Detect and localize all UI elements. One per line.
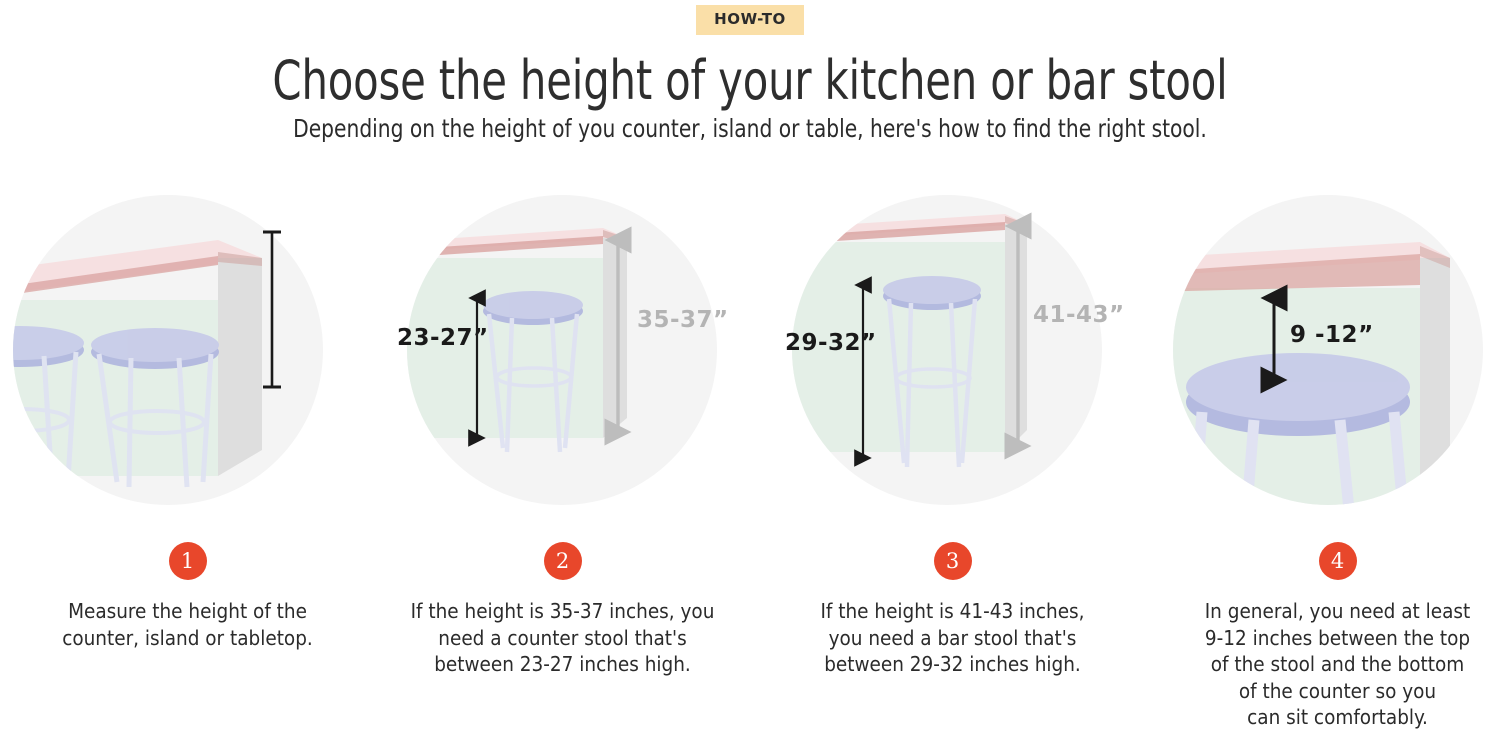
caption-3-line-3: between 29-32 inches high.: [775, 651, 1130, 678]
caption-4: In general, you need at least 9-12 inche…: [1150, 598, 1500, 729]
caption-2-line-3: between 23-27 inches high.: [385, 651, 740, 678]
caption-3: If the height is 41-43 inches, you need …: [765, 598, 1140, 678]
illustration-svg-4: [1150, 180, 1500, 520]
badge-row: HOW-TO: [0, 5, 1500, 35]
caption-2-line-2: need a counter stool that's: [385, 625, 740, 652]
caption-2: If the height is 35-37 inches, you need …: [375, 598, 750, 678]
step-number-2: 2: [544, 542, 582, 580]
panel-step-1: 1 Measure the height of the counter, isl…: [0, 180, 375, 729]
dimension-label-counter-3: 41-43”: [1033, 302, 1125, 328]
step-number-4: 4: [1319, 542, 1357, 580]
caption-4-line-5: can sit comfortably.: [1160, 704, 1500, 729]
illustration-svg-1: [0, 180, 375, 520]
panel-step-4: 9 -12” 4 In general, you need at least 9…: [1150, 180, 1500, 729]
scene-4: [1150, 242, 1450, 520]
page-title: Choose the height of your kitchen or bar…: [105, 49, 1395, 112]
scene-1: [0, 240, 262, 487]
caption-3-line-2: you need a bar stool that's: [775, 625, 1130, 652]
caption-1-line-2: counter, island or tabletop.: [10, 625, 365, 652]
panel-step-3: 29-32” 41-43” 3 If the height is 41-43 i…: [765, 180, 1140, 729]
illustration-counter-two-stools: [0, 180, 375, 520]
illustration-counter-stool-29-32: 29-32” 41-43”: [765, 180, 1140, 520]
illustration-counter-stool-23-27: 23-27” 35-37”: [375, 180, 750, 520]
caption-2-line-1: If the height is 35-37 inches, you: [385, 598, 740, 625]
panels-container: 1 Measure the height of the counter, isl…: [0, 180, 1500, 729]
dimension-label-gap-4: 9 -12”: [1290, 322, 1374, 348]
caption-1-line-1: Measure the height of the: [10, 598, 365, 625]
caption-4-line-4: of the counter so you: [1160, 678, 1500, 705]
step-number-1: 1: [169, 542, 207, 580]
dimension-label-counter-2: 35-37”: [637, 307, 729, 333]
illustration-gap-9-12: 9 -12”: [1150, 180, 1500, 520]
dimension-label-stool-3: 29-32”: [785, 330, 877, 356]
panel-step-2: 23-27” 35-37” 2 If the height is 35-37 i…: [375, 180, 750, 729]
caption-1: Measure the height of the counter, islan…: [0, 598, 375, 651]
page-subtitle: Depending on the height of you counter, …: [75, 114, 1425, 143]
caption-3-line-1: If the height is 41-43 inches,: [775, 598, 1130, 625]
caption-4-line-3: of the stool and the bottom: [1160, 651, 1500, 678]
caption-4-line-1: In general, you need at least: [1160, 598, 1500, 625]
how-to-badge: HOW-TO: [696, 5, 804, 35]
infographic-page: HOW-TO Choose the height of your kitchen…: [0, 0, 1500, 729]
step-number-3: 3: [934, 542, 972, 580]
caption-4-line-2: 9-12 inches between the top: [1160, 625, 1500, 652]
dimension-label-stool-2: 23-27”: [397, 325, 489, 351]
